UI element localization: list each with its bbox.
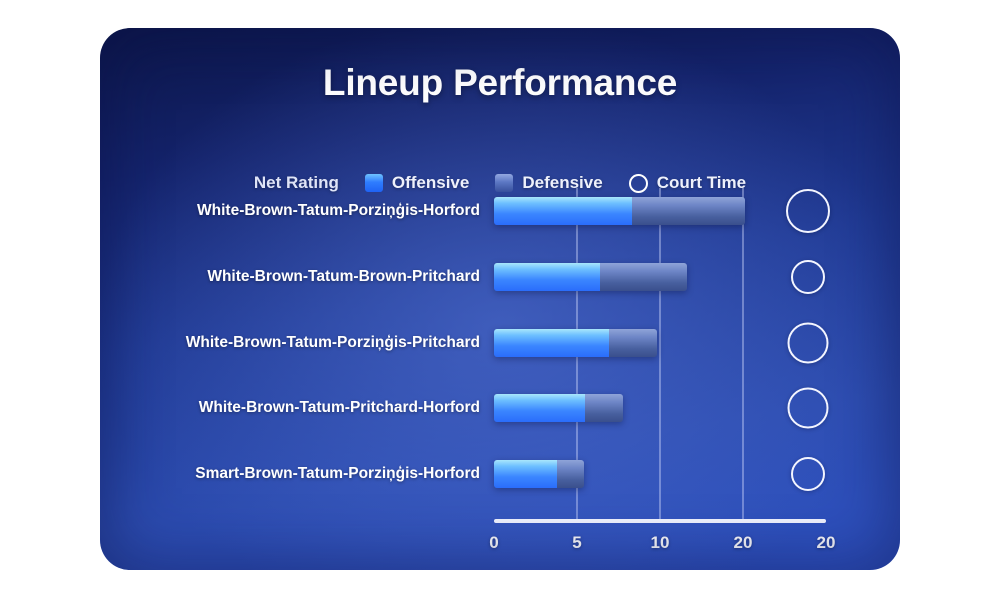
gridline: [659, 188, 661, 519]
x-tick-label: 0: [489, 533, 498, 553]
stacked-bar[interactable]: [494, 329, 657, 357]
bar-segment-offensive[interactable]: [494, 263, 600, 291]
court-time-marker[interactable]: [788, 323, 829, 364]
gridline: [742, 188, 744, 519]
bar-segment-defensive[interactable]: [557, 460, 584, 488]
lineup-row-label: White-Brown-Tatum-Porziņģis-Pritchard: [100, 334, 480, 352]
bar-segment-defensive[interactable]: [585, 394, 623, 422]
chart-card: Lineup Performance Net Rating Offensive …: [100, 28, 900, 570]
stacked-bar[interactable]: [494, 460, 584, 488]
court-time-marker[interactable]: [786, 189, 830, 233]
bar-segment-defensive[interactable]: [632, 197, 745, 225]
lineup-row-label: White-Brown-Tatum-Pritchard-Horford: [100, 399, 480, 417]
bar-segment-offensive[interactable]: [494, 329, 609, 357]
x-tick-label: 20: [734, 533, 753, 553]
x-axis-line: [494, 519, 826, 523]
lineup-row-label: White-Brown-Tatum-Porziņģis-Horford: [100, 202, 480, 220]
x-tick-label: 5: [572, 533, 581, 553]
bar-segment-offensive[interactable]: [494, 197, 632, 225]
bar-segment-defensive[interactable]: [600, 263, 686, 291]
bar-segment-offensive[interactable]: [494, 460, 557, 488]
bar-segment-offensive[interactable]: [494, 394, 585, 422]
stacked-bar[interactable]: [494, 197, 745, 225]
screenshot-root: Lineup Performance Net Rating Offensive …: [0, 0, 1000, 600]
court-time-marker[interactable]: [791, 457, 825, 491]
stacked-bar[interactable]: [494, 394, 623, 422]
stacked-bar[interactable]: [494, 263, 687, 291]
court-time-marker[interactable]: [788, 388, 829, 429]
bar-segment-defensive[interactable]: [609, 329, 657, 357]
lineup-row-label: White-Brown-Tatum-Brown-Pritchard: [100, 268, 480, 286]
court-time-marker[interactable]: [791, 260, 825, 294]
plot-area: 05102020White-Brown-Tatum-Porziņģis-Horf…: [100, 28, 900, 570]
x-tick-label: 20: [817, 533, 836, 553]
x-tick-label: 10: [651, 533, 670, 553]
lineup-row-label: Smart-Brown-Tatum-Porziņģis-Horford: [100, 465, 480, 483]
